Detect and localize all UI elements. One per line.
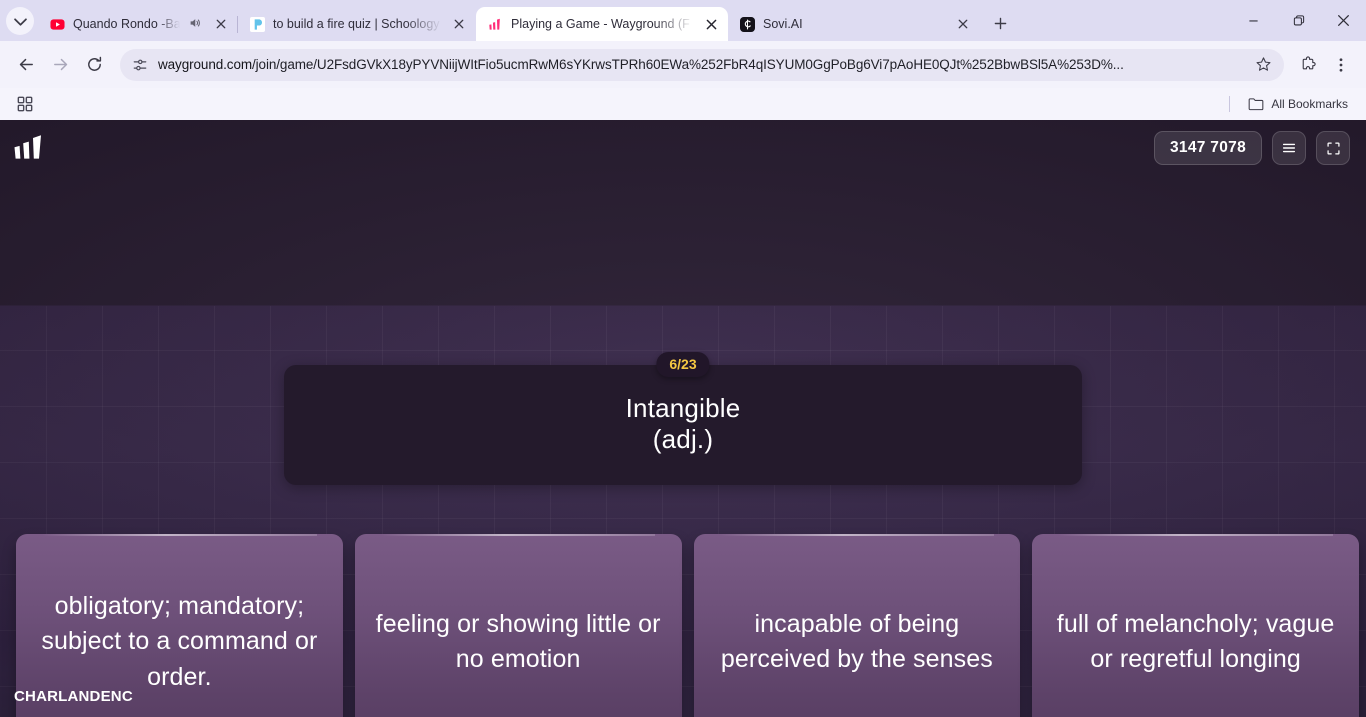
kebab-icon xyxy=(1332,56,1350,74)
answer-text: feeling or showing little or no emotion xyxy=(355,607,682,678)
fullscreen-icon xyxy=(1326,141,1341,156)
back-arrow-icon xyxy=(17,55,36,74)
game-header-controls: 3147 7078 xyxy=(1154,131,1350,165)
tab-close-button[interactable] xyxy=(450,15,468,33)
sovi-icon xyxy=(739,16,755,32)
question-part-of-speech: (adj.) xyxy=(626,424,741,455)
tab-audio-icon[interactable] xyxy=(188,16,204,33)
minimize-button[interactable] xyxy=(1231,0,1276,41)
tab-close-button[interactable] xyxy=(702,15,720,33)
youtube-icon xyxy=(49,16,65,32)
answer-text: incapable of being perceived by the sens… xyxy=(694,607,1021,678)
window-controls xyxy=(1231,0,1366,41)
forward-button[interactable] xyxy=(44,49,76,81)
all-bookmarks-label: All Bookmarks xyxy=(1271,97,1348,111)
apps-shortcut-button[interactable] xyxy=(12,92,38,116)
tab-strip: Quando Rondo -Bacc to the to build a fir… xyxy=(0,0,1366,41)
game-menu-button[interactable] xyxy=(1272,131,1306,165)
bookmarks-bar: All Bookmarks xyxy=(0,88,1366,120)
game-code-badge[interactable]: 3147 7078 xyxy=(1154,131,1262,165)
wayground-game-app: 3147 7078 6/23 Intangible (adj.) xyxy=(0,120,1366,717)
wayground-icon xyxy=(487,16,503,32)
bookmarks-divider xyxy=(1229,96,1230,112)
tab-search-button[interactable] xyxy=(6,7,34,35)
schoology-icon xyxy=(249,16,265,32)
answer-text: obligatory; mandatory; subject to a comm… xyxy=(16,589,343,696)
url-text: wayground.com/join/game/U2FsdGVkX18yPYVN… xyxy=(158,57,1245,72)
answer-option-2[interactable]: feeling or showing little or no emotion xyxy=(355,534,682,717)
minimize-icon xyxy=(1248,15,1259,26)
browser-menu-button[interactable] xyxy=(1326,50,1356,80)
tab-sovi-ai[interactable]: Sovi.AI xyxy=(728,7,980,41)
tab-title: Sovi.AI xyxy=(763,17,946,31)
question-term: Intangible xyxy=(626,393,741,424)
url-path: /join/game/U2FsdGVkX18yPYVNiijWItFio5ucm… xyxy=(252,57,1124,72)
wayground-logo xyxy=(14,134,48,162)
close-window-button[interactable] xyxy=(1321,0,1366,41)
tab-close-button[interactable] xyxy=(212,15,230,33)
apps-grid-icon xyxy=(17,96,33,112)
tab-playing-a-game-wayground[interactable]: Playing a Game - Wayground (F xyxy=(476,7,728,41)
maximize-icon xyxy=(1293,15,1305,27)
tab-title: Quando Rondo -Bacc to the xyxy=(73,17,180,31)
game-header: 3147 7078 xyxy=(0,120,1366,176)
fullscreen-button[interactable] xyxy=(1316,131,1350,165)
tab-close-button[interactable] xyxy=(954,15,972,33)
url-domain: wayground.com xyxy=(158,57,252,72)
new-tab-button[interactable] xyxy=(986,9,1014,37)
site-settings-icon[interactable] xyxy=(132,57,148,73)
question-text: Intangible (adj.) xyxy=(598,393,769,457)
browser-toolbar: wayground.com/join/game/U2FsdGVkX18yPYVN… xyxy=(0,41,1366,88)
tab-title: Playing a Game - Wayground (F xyxy=(511,17,694,31)
browser-chrome: Quando Rondo -Bacc to the to build a fir… xyxy=(0,0,1366,120)
chevron-down-icon xyxy=(14,15,27,28)
question-card: Intangible (adj.) xyxy=(284,365,1082,485)
tab-schoology[interactable]: to build a fire quiz | Schoology xyxy=(238,7,476,41)
reload-button[interactable] xyxy=(78,49,110,81)
puzzle-icon xyxy=(1300,56,1318,74)
plus-icon xyxy=(994,17,1007,30)
tab-quando-rondo[interactable]: Quando Rondo -Bacc to the xyxy=(38,7,238,41)
reload-icon xyxy=(85,55,104,74)
hamburger-icon xyxy=(1281,140,1297,156)
answer-option-4[interactable]: full of melancholy; vague or regretful l… xyxy=(1032,534,1359,717)
close-icon xyxy=(1337,14,1350,27)
forward-arrow-icon xyxy=(51,55,70,74)
folder-icon xyxy=(1248,97,1264,111)
answer-options: obligatory; mandatory; subject to a comm… xyxy=(16,534,1359,717)
player-name-label: CHARLANDENC xyxy=(14,686,134,707)
back-button[interactable] xyxy=(10,49,42,81)
bookmark-star-icon[interactable] xyxy=(1255,56,1272,73)
address-bar[interactable]: wayground.com/join/game/U2FsdGVkX18yPYVN… xyxy=(120,49,1284,81)
answer-option-3[interactable]: incapable of being perceived by the sens… xyxy=(694,534,1021,717)
question-counter-badge: 6/23 xyxy=(656,352,709,377)
extensions-button[interactable] xyxy=(1294,50,1324,80)
answer-text: full of melancholy; vague or regretful l… xyxy=(1032,607,1359,678)
all-bookmarks-button[interactable]: All Bookmarks xyxy=(1242,94,1354,114)
tab-title: to build a fire quiz | Schoology xyxy=(273,17,442,31)
maximize-button[interactable] xyxy=(1276,0,1321,41)
